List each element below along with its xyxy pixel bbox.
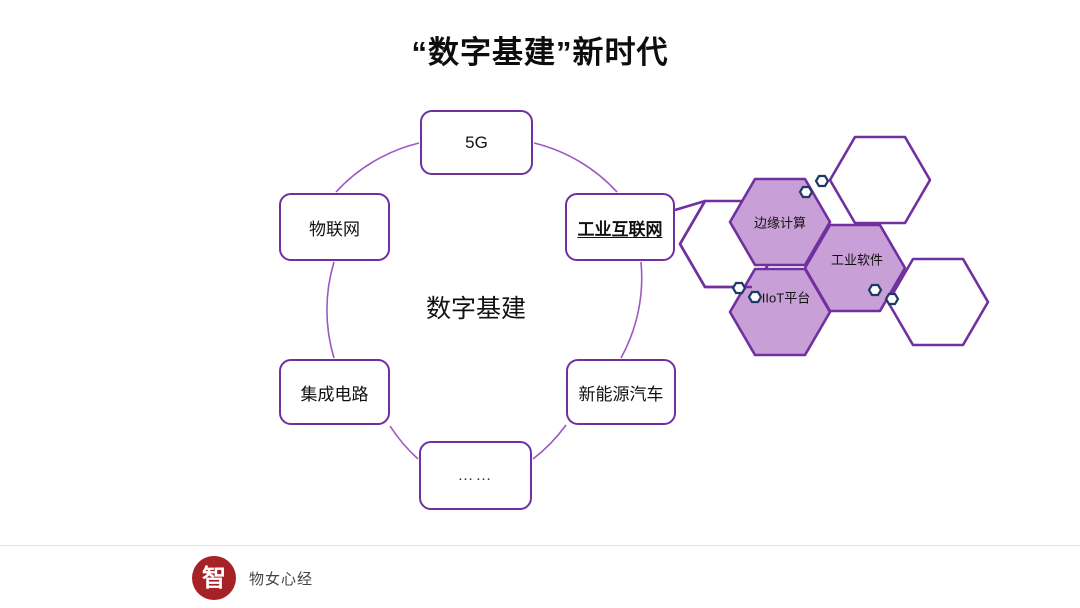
slide-canvas: “数字基建”新时代 [0,0,1080,608]
brand-name-label: 物女心经 [249,568,313,589]
wheel-node-integrated-circuit[interactable]: 集成电路 [279,359,390,425]
page-title: “数字基建”新时代 [0,34,1080,71]
connector-dot-2 [816,176,828,186]
link-to-cluster [675,201,752,287]
arc-5g-iiot [534,143,617,192]
footer-divider [0,545,1080,546]
wheel-node-ellipsis[interactable]: …… [419,441,532,510]
hex-cell-empty-top [830,137,930,223]
wheel-node-5g[interactable]: 5G [420,110,533,175]
arc-nev-etc [533,425,566,459]
hex-label-industrial-software[interactable]: 工业软件 [831,250,883,269]
connector-dots [733,176,898,304]
footer-brand: 智 物女心经 [192,556,313,600]
wheel-node-new-energy-vehicle[interactable]: 新能源汽车 [566,359,676,425]
cluster-link [675,201,752,287]
wheel-node-industrial-internet[interactable]: 工业互联网 [565,193,675,261]
brand-logo-icon: 智 [192,556,236,600]
connector-dot-1 [800,187,812,197]
hex-label-edge-computing[interactable]: 边缘计算 [754,213,806,232]
arc-etc-ic [390,426,418,459]
arc-iot-5g [336,143,419,192]
wheel-node-iot[interactable]: 物联网 [279,193,390,261]
hex-label-iiot-platform[interactable]: IIoT平台 [762,288,810,307]
